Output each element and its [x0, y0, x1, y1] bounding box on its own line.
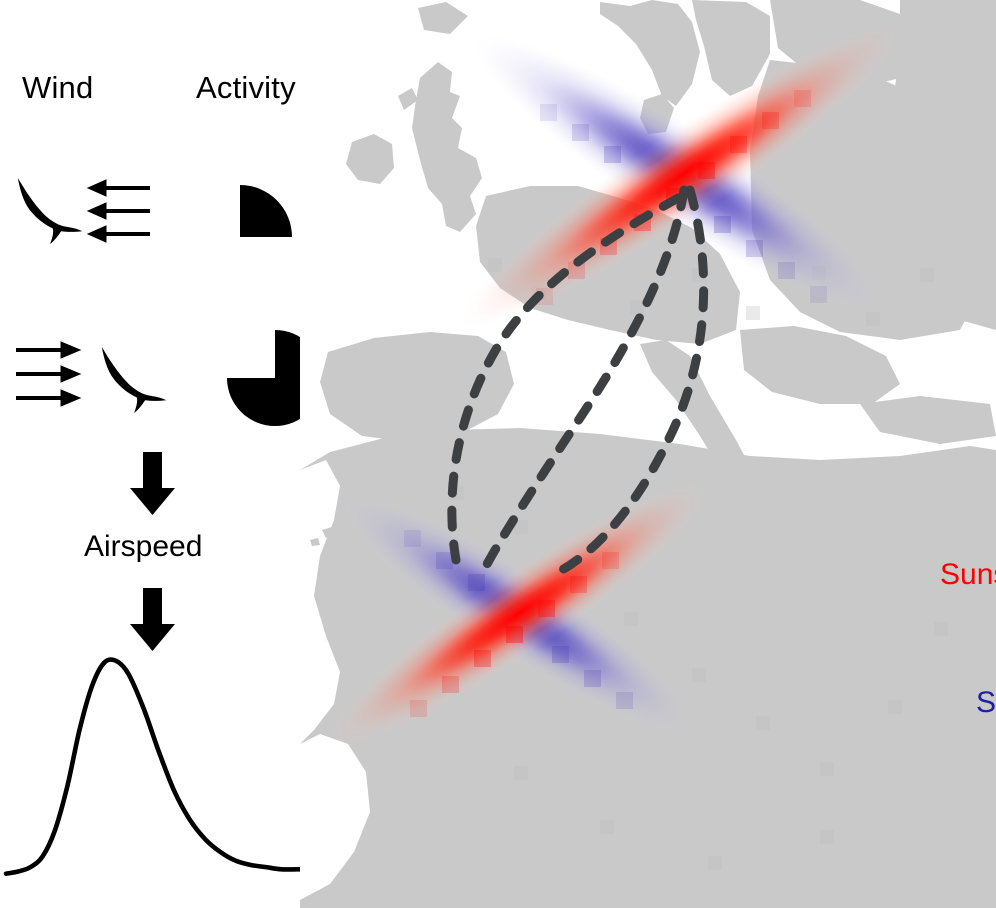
map-panel: Sunset Sunrise: [300, 0, 996, 908]
airspeed-distribution-curve: [6, 660, 312, 874]
map-graphics: [300, 0, 996, 908]
bird-icon-headwind: [18, 178, 82, 244]
wind-row-tailwind: [16, 330, 323, 426]
figure-root: Wind Activity Airspeed: [0, 0, 996, 908]
wind-arrows-left: [88, 180, 150, 242]
wind-arrows-right: [16, 342, 80, 406]
map-label-sunrise: Sunrise: [976, 686, 996, 720]
flow-arrow-down-1: [130, 452, 175, 515]
schematic-panel: Wind Activity Airspeed: [0, 0, 340, 908]
schematic-graphics: [0, 0, 340, 908]
activity-pie-low: [240, 185, 292, 237]
map-label-sunset: Sunset: [940, 558, 996, 592]
bird-icon-tailwind: [102, 347, 166, 413]
wind-row-headwind: [18, 178, 292, 244]
flow-arrow-down-2: [130, 588, 175, 651]
